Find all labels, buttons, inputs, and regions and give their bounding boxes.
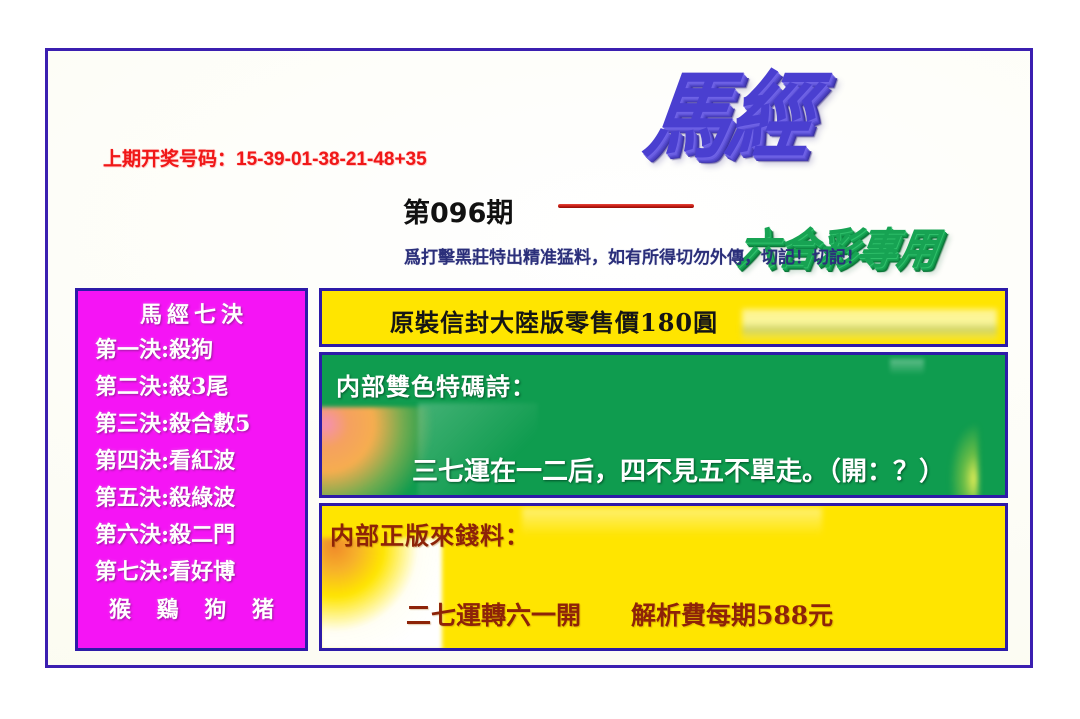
- poster-header: 上期开奖号码：15-39-01-38-21-48+35 第096期 馬經 六合彩…: [48, 51, 1030, 281]
- list-item: 第三決:殺合數5: [78, 406, 305, 443]
- scan-artifact-band: [522, 508, 822, 536]
- previous-draw-label: 上期开奖号码：: [103, 148, 236, 170]
- seven-decisions-list: 馬經七決 第一決:殺狗 第二決:殺3尾 第三決:殺合數5 第四決:看紅波 第五決…: [78, 291, 305, 648]
- poster-body: 馬經七決 第一決:殺狗 第二決:殺3尾 第三決:殺合數5 第四決:看紅波 第五決…: [75, 288, 1008, 651]
- list-item: 第五決:殺綠波: [78, 480, 305, 517]
- seven-decisions-panel: 馬經七決 第一決:殺狗 第二決:殺3尾 第三決:殺合數5 第四決:看紅波 第五決…: [75, 288, 308, 651]
- list-item: 第二決:殺3尾: [78, 369, 305, 406]
- list-item: 第七決:看好博: [78, 554, 305, 591]
- list-item: 第一決:殺狗: [78, 332, 305, 369]
- poem-card: 内部雙色特碼詩： 三七運在一二后，四不見五不單走。（開：？）: [319, 352, 1008, 498]
- previous-draw-line: 上期开奖号码：15-39-01-38-21-48+35: [103, 144, 427, 171]
- brand-title: 馬經: [640, 69, 817, 163]
- money-card: 内部正版來錢料： 二七運轉六一開 解析費每期588元: [319, 503, 1008, 651]
- poem-text: 三七運在一二后，四不見五不單走。（開：？）: [412, 451, 945, 488]
- zodiac-row: 猴 鷄 狗 猪: [78, 591, 305, 629]
- price-card: 原裝信封大陸版零售價180圓: [319, 288, 1008, 347]
- poster-frame: 上期开奖号码：15-39-01-38-21-48+35 第096期 馬經 六合彩…: [45, 48, 1033, 668]
- price-text: 原裝信封大陸版零售價180圓: [390, 303, 718, 338]
- list-item: 第六決:殺二門: [78, 517, 305, 554]
- header-tagline: 爲打擊黑莊特出精准猛料，如有所得切勿外傳，切記！切記！: [404, 243, 863, 268]
- scan-artifact-band: [742, 309, 997, 343]
- poster-background: 上期开奖号码：15-39-01-38-21-48+35 第096期 馬經 六合彩…: [48, 51, 1030, 665]
- issue-number: 第096期: [403, 191, 513, 230]
- list-item: 第四決:看紅波: [78, 443, 305, 480]
- scan-artifact-blob: [320, 538, 442, 650]
- scan-artifact-tick: [890, 359, 924, 375]
- cards-column: 原裝信封大陸版零售價180圓 内部雙色特碼詩： 三七運在一二后，四不見五不單走。…: [319, 288, 1008, 651]
- money-text: 二七運轉六一開 解析費每期588元: [406, 596, 833, 632]
- previous-draw-numbers: 15-39-01-38-21-48+35: [236, 149, 427, 170]
- money-label: 内部正版來錢料：: [330, 516, 530, 551]
- header-divider-line: [558, 204, 694, 208]
- poem-label: 内部雙色特碼詩：: [336, 367, 536, 402]
- seven-decisions-title: 馬經七決: [78, 298, 305, 332]
